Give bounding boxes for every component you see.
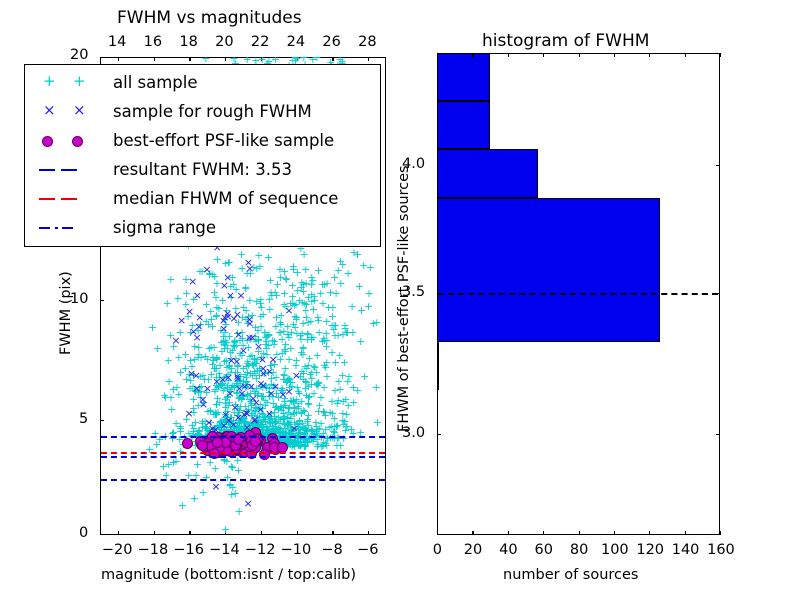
scatter-point-all-sample: +: [308, 277, 317, 284]
scatter-point-all-sample: +: [364, 303, 373, 310]
right-ytick-3.0: 3.0: [402, 425, 425, 441]
left-toptick-label-24: 24: [287, 34, 305, 50]
right-ytick-4.0: 4.0: [402, 156, 425, 172]
scatter-point-rough-fwhm: ×: [177, 317, 186, 324]
scatter-point-all-sample: +: [344, 373, 353, 380]
legend-box: ++all sample××sample for rough FWHMbest-…: [24, 64, 381, 247]
left-xtick-label--20: −20: [102, 542, 133, 558]
scatter-point-all-sample: +: [176, 423, 185, 430]
scatter-point-all-sample: +: [359, 262, 368, 269]
scatter-point-rough-fwhm: ×: [187, 370, 196, 377]
scatter-point-all-sample: +: [164, 461, 173, 468]
scatter-point-psf-like: [212, 437, 223, 448]
scatter-point-rough-fwhm: ×: [239, 347, 248, 354]
right-xtick-label-80: 80: [570, 542, 588, 558]
legend-item-1[interactable]: ××sample for rough FWHM: [31, 98, 376, 126]
left-toptick-label-28: 28: [358, 34, 376, 50]
scatter-point-rough-fwhm: ×: [240, 411, 249, 418]
legend-item-5[interactable]: sigma range: [31, 214, 376, 242]
legend-item-label: resultant FWHM: 3.53: [113, 160, 292, 179]
right-toptick-mark: [685, 53, 686, 57]
scatter-point-all-sample: +: [372, 384, 381, 391]
scatter-point-all-sample: +: [292, 357, 301, 364]
left-xtick-label--12: −12: [245, 542, 276, 558]
x-marker-icon: ×: [73, 103, 86, 118]
scatter-point-all-sample: +: [234, 508, 243, 515]
scatter-point-all-sample: +: [302, 365, 311, 372]
filled-circle-marker-icon: [31, 127, 109, 155]
scatter-point-all-sample: +: [336, 280, 345, 287]
left-xtick-label--10: −10: [281, 542, 312, 558]
scatter-point-all-sample: +: [297, 279, 306, 286]
scatter-point-rough-fwhm: ×: [204, 419, 213, 426]
scatter-point-all-sample: +: [259, 311, 268, 318]
scatter-point-rough-fwhm: ×: [188, 278, 197, 285]
sigma-range-upper-line: [101, 436, 385, 438]
scatter-point-rough-fwhm: ×: [203, 385, 212, 392]
right-ytick-3.5: 3.5: [402, 284, 425, 300]
scatter-point-all-sample: +: [194, 351, 203, 358]
scatter-point-all-sample: +: [211, 465, 220, 472]
scatter-point-all-sample: +: [213, 256, 222, 263]
scatter-point-all-sample: +: [356, 338, 365, 345]
scatter-point-rough-fwhm: ×: [243, 500, 252, 507]
scatter-point-all-sample: +: [313, 352, 322, 359]
scatter-point-all-sample: +: [254, 252, 263, 259]
scatter-point-all-sample: +: [342, 423, 351, 430]
scatter-point-psf-like: [259, 449, 270, 460]
right-xtick-label-20: 20: [464, 542, 482, 558]
resultant-fwhm-line: [101, 456, 385, 458]
scatter-point-rough-fwhm: ×: [219, 325, 228, 332]
legend-item-0[interactable]: ++all sample: [31, 69, 376, 97]
scatter-point-all-sample: +: [373, 419, 382, 426]
right-xtick-label-140: 140: [672, 542, 700, 558]
blue-dashed-line-icon: [61, 169, 77, 171]
legend-item-label: sample for rough FWHM: [113, 102, 312, 121]
scatter-point-rough-fwhm: ×: [218, 376, 227, 383]
scatter-point-all-sample: +: [307, 336, 316, 343]
scatter-point-rough-fwhm: ×: [278, 391, 287, 398]
scatter-point-all-sample: +: [289, 263, 298, 270]
right-xtick-mark: [508, 531, 509, 535]
scatter-point-all-sample: +: [360, 373, 369, 380]
scatter-point-rough-fwhm: ×: [221, 411, 230, 418]
scatter-point-rough-fwhm: ×: [266, 390, 275, 397]
scatter-point-rough-fwhm: ×: [234, 331, 243, 338]
scatter-point-all-sample: +: [318, 281, 327, 288]
scatter-point-all-sample: +: [182, 290, 191, 297]
right-xtick-mark: [649, 531, 650, 535]
right-panel-title: histogram of FWHM: [482, 31, 649, 51]
scatter-point-all-sample: +: [318, 300, 327, 307]
scatter-point-all-sample: +: [258, 57, 267, 63]
right-xtick-mark: [579, 531, 580, 535]
scatter-point-rough-fwhm: ×: [250, 416, 259, 423]
scatter-point-all-sample: +: [209, 344, 218, 351]
figure-canvas: FWHM vs magnitudes FWHM (pix) 20 10 5 0 …: [0, 0, 800, 600]
right-xtick-mark: [685, 531, 686, 535]
scatter-point-all-sample: +: [292, 316, 301, 323]
scatter-point-all-sample: +: [153, 345, 162, 352]
scatter-point-all-sample: +: [322, 318, 331, 325]
scatter-point-rough-fwhm: ×: [225, 390, 234, 397]
scatter-point-all-sample: +: [342, 411, 351, 418]
scatter-point-all-sample: +: [343, 270, 352, 277]
left-toptick-label-18: 18: [179, 34, 197, 50]
right-xtick-mark: [472, 531, 473, 535]
scatter-point-rough-fwhm: ×: [245, 320, 254, 327]
scatter-point-all-sample: +: [178, 502, 187, 509]
scatter-point-rough-fwhm: ×: [256, 406, 265, 413]
left-toptick-label-22: 22: [251, 34, 269, 50]
right-toptick-mark: [720, 53, 721, 57]
scatter-point-all-sample: +: [364, 290, 373, 297]
scatter-point-rough-fwhm: ×: [202, 266, 211, 273]
legend-item-3[interactable]: resultant FWHM: 3.53: [31, 156, 376, 184]
scatter-point-rough-fwhm: ×: [184, 410, 193, 417]
scatter-point-all-sample: +: [348, 329, 357, 336]
right-xtick-label-120: 120: [636, 542, 664, 558]
scatter-point-all-sample: +: [201, 57, 210, 62]
right-toptick-mark: [437, 53, 438, 57]
histogram-bar: [437, 101, 490, 149]
right-panel-xlabel: number of sources: [503, 567, 639, 583]
scatter-point-all-sample: +: [163, 300, 172, 307]
scatter-point-all-sample: +: [221, 260, 230, 267]
right-toptick-mark: [579, 53, 580, 57]
left-toptick-label-14: 14: [108, 34, 126, 50]
scatter-point-all-sample: +: [167, 406, 176, 413]
scatter-point-rough-fwhm: ×: [220, 282, 229, 289]
scatter-point-all-sample: +: [372, 319, 381, 326]
scatter-point-all-sample: +: [334, 378, 343, 385]
scatter-point-rough-fwhm: ×: [185, 308, 194, 315]
scatter-point-all-sample: +: [327, 423, 336, 430]
scatter-point-rough-fwhm: ×: [284, 307, 293, 314]
blue-dashed-line-icon: [31, 156, 109, 184]
left-toptick-label-26: 26: [322, 34, 340, 50]
scatter-point-all-sample: +: [326, 409, 335, 416]
left-xtick-label--6: −6: [357, 542, 378, 558]
right-xtick-label-40: 40: [499, 542, 517, 558]
scatter-point-all-sample: +: [210, 289, 219, 296]
scatter-point-all-sample: +: [166, 276, 175, 283]
plus-marker-icon: +: [73, 74, 86, 89]
left-xtick-label--16: −16: [173, 542, 204, 558]
blue-dashdot-line-icon: [39, 227, 50, 229]
scatter-point-rough-fwhm: ×: [193, 292, 202, 299]
scatter-point-rough-fwhm: ×: [269, 356, 278, 363]
legend-item-4[interactable]: median FHWM of sequence: [31, 185, 376, 213]
legend-item-label: best-effort PSF-like sample: [113, 131, 334, 150]
scatter-point-rough-fwhm: ×: [194, 323, 203, 330]
scatter-point-all-sample: +: [302, 379, 311, 386]
scatter-point-all-sample: +: [223, 345, 232, 352]
right-xtick-label-60: 60: [535, 542, 553, 558]
left-toptick-label-20: 20: [215, 34, 233, 50]
histogram-resultant-fwhm-line: [438, 293, 718, 295]
scatter-point-rough-fwhm: ×: [247, 383, 256, 390]
right-xtick-mark: [543, 531, 544, 535]
scatter-point-rough-fwhm: ×: [244, 259, 253, 266]
scatter-point-rough-fwhm: ×: [265, 410, 274, 417]
right-toptick-mark: [543, 53, 544, 57]
scatter-point-all-sample: +: [340, 359, 349, 366]
scatter-point-all-sample: +: [319, 384, 328, 391]
scatter-point-rough-fwhm: ×: [258, 356, 267, 363]
scatter-point-rough-fwhm: ×: [232, 358, 241, 365]
scatter-point-rough-fwhm: ×: [254, 343, 263, 350]
red-dashed-line-icon: [61, 198, 77, 200]
legend-item-label: median FHWM of sequence: [113, 189, 338, 208]
plus-marker-icon: +: [43, 74, 56, 89]
right-xtick-mark: [720, 531, 721, 535]
median-fwhm-line: [101, 452, 385, 454]
left-ytick-0: 0: [79, 525, 88, 541]
scatter-point-all-sample: +: [166, 394, 175, 401]
filled-circle-marker-icon: [42, 136, 53, 147]
histogram-bar: [437, 149, 538, 197]
right-xtick-mark: [437, 531, 438, 535]
sigma-range-lower-line: [101, 479, 385, 481]
scatter-point-rough-fwhm: ×: [229, 315, 238, 322]
x-marker-icon: ××: [31, 98, 109, 126]
scatter-point-all-sample: +: [334, 332, 343, 339]
histogram-bar: [437, 198, 660, 343]
x-marker-icon: ×: [43, 103, 56, 118]
left-ytick-20: 20: [70, 47, 88, 63]
left-toptick-label-16: 16: [144, 34, 162, 50]
right-xtick-label-0: 0: [433, 542, 442, 558]
scatter-point-rough-fwhm: ×: [211, 483, 220, 490]
legend-item-label: all sample: [113, 73, 198, 92]
scatter-point-all-sample: +: [307, 291, 316, 298]
scatter-point-all-sample: +: [173, 295, 182, 302]
scatter-point-all-sample: +: [297, 398, 306, 405]
scatter-point-all-sample: +: [314, 317, 323, 324]
scatter-point-all-sample: +: [148, 324, 157, 331]
scatter-point-all-sample: +: [271, 323, 280, 330]
scatter-point-all-sample: +: [212, 355, 221, 362]
scatter-point-all-sample: +: [308, 57, 317, 63]
scatter-point-all-sample: +: [245, 297, 254, 304]
scatter-point-rough-fwhm: ×: [290, 425, 299, 432]
scatter-point-all-sample: +: [289, 398, 298, 405]
scatter-point-all-sample: +: [210, 365, 219, 372]
blue-dashdot-line-icon: [31, 214, 109, 242]
left-panel-title: FWHM vs magnitudes: [117, 8, 302, 28]
scatter-point-rough-fwhm: ×: [292, 372, 301, 379]
right-xtick-label-160: 160: [707, 542, 735, 558]
left-panel-ylabel: FWHM (pix): [58, 271, 74, 355]
scatter-point-all-sample: +: [314, 267, 323, 274]
red-dashed-line-icon: [31, 185, 109, 213]
scatter-point-all-sample: +: [300, 251, 309, 258]
left-panel-xlabel: magnitude (bottom:isnt / top:calib): [101, 567, 356, 583]
scatter-point-all-sample: +: [332, 290, 341, 297]
left-xtick-label--8: −8: [321, 542, 342, 558]
scatter-point-rough-fwhm: ×: [199, 401, 208, 408]
left-xtick-label--18: −18: [138, 542, 169, 558]
right-toptick-mark: [508, 53, 509, 57]
blue-dashdot-line-icon: [62, 227, 73, 229]
red-dashed-line-icon: [39, 198, 55, 200]
scatter-point-all-sample: +: [275, 266, 284, 273]
histogram-bar: [437, 342, 439, 390]
blue-dashed-line-icon: [39, 169, 55, 171]
scatter-point-all-sample: +: [191, 472, 200, 479]
scatter-point-rough-fwhm: ×: [236, 292, 245, 299]
scatter-point-all-sample: +: [228, 464, 237, 471]
right-toptick-mark: [614, 53, 615, 57]
right-xtick-mark: [614, 531, 615, 535]
left-ytick-10: 10: [70, 291, 88, 307]
scatter-point-rough-fwhm: ×: [230, 404, 239, 411]
scatter-point-all-sample: +: [334, 267, 343, 274]
scatter-point-all-sample: +: [264, 254, 273, 261]
legend-item-2[interactable]: best-effort PSF-like sample: [31, 127, 376, 155]
left-xtick-label--14: −14: [209, 542, 240, 558]
scatter-point-all-sample: +: [322, 359, 331, 366]
scatter-point-all-sample: +: [348, 303, 357, 310]
left-ytick-5: 5: [79, 411, 88, 427]
scatter-point-all-sample: +: [339, 398, 348, 405]
blue-dashdot-line-icon: [55, 227, 58, 229]
scatter-point-all-sample: +: [308, 428, 317, 435]
right-toptick-mark: [472, 53, 473, 57]
scatter-point-all-sample: +: [281, 341, 290, 348]
scatter-point-all-sample: +: [263, 333, 272, 340]
histogram-bar: [437, 53, 490, 101]
scatter-point-all-sample: +: [349, 384, 358, 391]
scatter-point-all-sample: +: [318, 338, 327, 345]
scatter-point-all-sample: +: [314, 408, 323, 415]
scatter-point-all-sample: +: [266, 289, 275, 296]
scatter-point-rough-fwhm: ×: [259, 370, 268, 377]
scatter-point-all-sample: +: [356, 429, 365, 436]
right-xtick-label-100: 100: [601, 542, 629, 558]
scatter-point-all-sample: +: [228, 484, 237, 491]
scatter-point-all-sample: +: [164, 357, 173, 364]
filled-circle-marker-icon: [72, 136, 83, 147]
scatter-point-rough-fwhm: ×: [226, 292, 235, 299]
scatter-point-rough-fwhm: ×: [171, 337, 180, 344]
scatter-point-rough-fwhm: ×: [192, 385, 201, 392]
right-toptick-mark: [649, 53, 650, 57]
scatter-point-rough-fwhm: ×: [237, 390, 246, 397]
scatter-point-all-sample: +: [221, 526, 230, 533]
scatter-point-psf-like: [182, 438, 193, 449]
scatter-point-all-sample: +: [198, 489, 207, 496]
scatter-point-all-sample: +: [355, 283, 364, 290]
scatter-point-all-sample: +: [193, 461, 202, 468]
scatter-point-all-sample: +: [349, 249, 358, 256]
legend-item-label: sigma range: [113, 218, 216, 237]
plus-marker-icon: ++: [31, 69, 109, 97]
scatter-point-psf-like: [197, 440, 208, 451]
